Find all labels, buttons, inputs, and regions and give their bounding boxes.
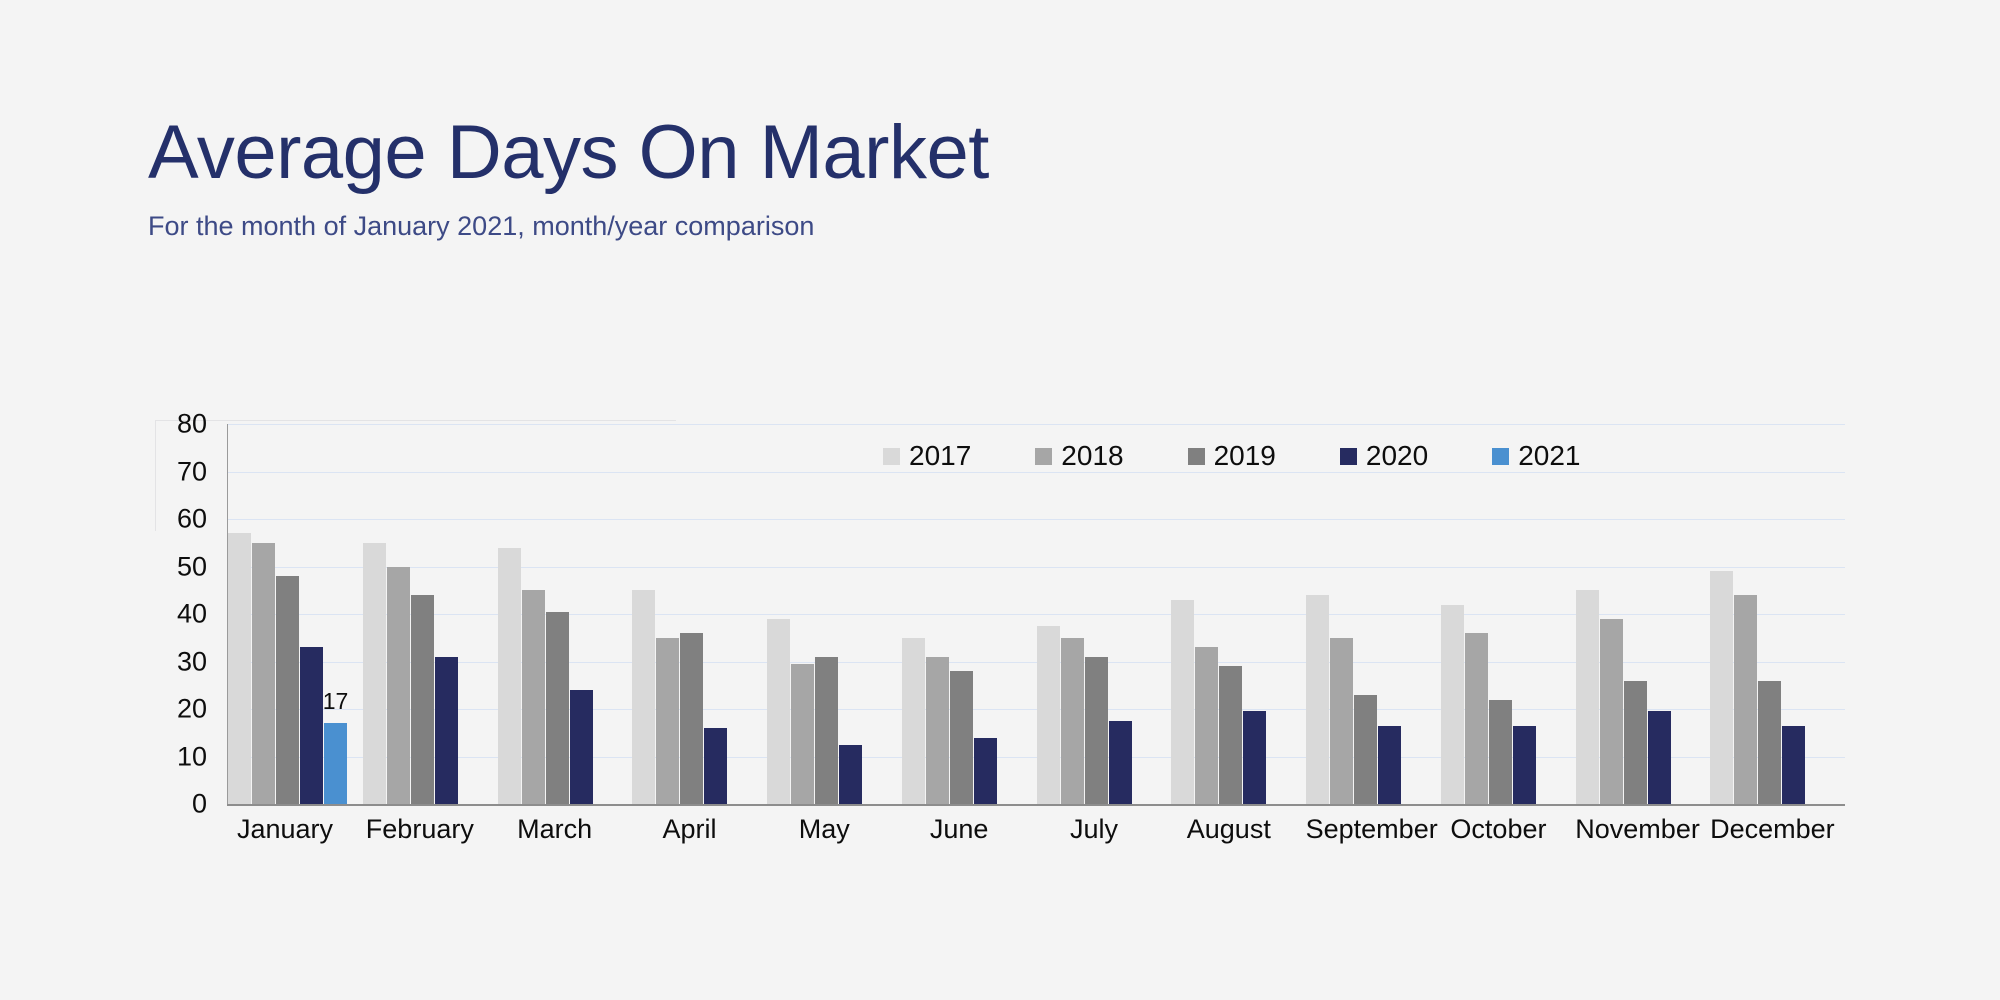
legend-item-2018[interactable]: 2018 (1035, 442, 1123, 470)
bar-2018-december[interactable] (1734, 595, 1757, 804)
y-axis: 80706050403020100 (155, 424, 217, 804)
bar-slot (1489, 424, 1512, 804)
bar-2017-july[interactable] (1037, 626, 1060, 804)
x-axis-tick-label: July (1036, 812, 1171, 852)
bar-2020-october[interactable] (1513, 726, 1536, 804)
legend-label: 2018 (1061, 442, 1123, 470)
bar-slot (1061, 424, 1084, 804)
x-axis-tick-text: June (901, 812, 1017, 846)
x-axis-tick-text: October (1440, 812, 1556, 846)
bar-group-august (1171, 424, 1306, 804)
bar-slot (1330, 424, 1353, 804)
bar-slot (1171, 424, 1194, 804)
bar-slot (656, 424, 679, 804)
bar-slot (1537, 424, 1560, 804)
x-axis-tick-label: October (1440, 812, 1575, 852)
bar-slot (1267, 424, 1290, 804)
bar-2020-january[interactable] (300, 647, 323, 804)
bar-slot (594, 424, 617, 804)
bar-slot (1133, 424, 1156, 804)
bar-slot (411, 424, 434, 804)
bar-slot (522, 424, 545, 804)
page-subtitle: For the month of January 2021, month/yea… (148, 210, 1548, 242)
bar-group-february (363, 424, 498, 804)
bar-slot (1806, 424, 1829, 804)
x-axis-tick-label: January (227, 812, 362, 852)
bar-slot (632, 424, 655, 804)
bar-slot (815, 424, 838, 804)
bar-group-july (1037, 424, 1172, 804)
bar-2018-january[interactable] (252, 543, 275, 804)
bar-2018-july[interactable] (1061, 638, 1084, 804)
bar-2019-january[interactable] (276, 576, 299, 804)
bar-slot (228, 424, 251, 804)
y-axis-tick-label: 0 (192, 791, 207, 818)
bar-2020-may[interactable] (839, 745, 862, 804)
bar-slot (300, 424, 323, 804)
bar-slot (1710, 424, 1733, 804)
bar-slot (1600, 424, 1623, 804)
bar-2019-august[interactable] (1219, 666, 1242, 804)
legend-item-2019[interactable]: 2019 (1188, 442, 1276, 470)
bar-2018-october[interactable] (1465, 633, 1488, 804)
bar-2018-may[interactable] (791, 664, 814, 804)
bar-slot (387, 424, 410, 804)
legend-label: 2019 (1214, 442, 1276, 470)
bar-slot (1306, 424, 1329, 804)
page-title: Average Days On Market (148, 110, 1548, 196)
bar-2017-october[interactable] (1441, 605, 1464, 805)
bar-slot (1672, 424, 1695, 804)
chart-header: Average Days On Market For the month of … (148, 110, 1548, 242)
bar-2017-may[interactable] (767, 619, 790, 804)
bar-slot (570, 424, 593, 804)
bar-slot (839, 424, 862, 804)
x-axis-tick-text: November (1575, 812, 1691, 846)
bar-2019-june[interactable] (950, 671, 973, 804)
bar-slot (459, 424, 482, 804)
bar-2018-april[interactable] (656, 638, 679, 804)
y-axis-tick-label: 40 (177, 601, 207, 628)
bar-slot (974, 424, 997, 804)
bar-slot (998, 424, 1021, 804)
bar-2019-april[interactable] (680, 633, 703, 804)
y-axis-tick-label: 50 (177, 553, 207, 580)
bar-slot (1402, 424, 1425, 804)
y-axis-tick-label: 70 (177, 458, 207, 485)
bar-slot (767, 424, 790, 804)
x-axis-tick-label: February (362, 812, 497, 852)
bar-2018-august[interactable] (1195, 647, 1218, 804)
legend-swatch-icon (883, 448, 900, 465)
bar-value-label: 17 (323, 690, 349, 713)
bar-slot (1648, 424, 1671, 804)
bar-slot (1465, 424, 1488, 804)
bar-2019-september[interactable] (1354, 695, 1377, 804)
bar-2019-may[interactable] (815, 657, 838, 804)
bar-2018-june[interactable] (926, 657, 949, 804)
bar-groups: 17 (228, 424, 1845, 804)
legend-item-2017[interactable]: 2017 (883, 442, 971, 470)
bar-2021-january[interactable] (324, 723, 347, 804)
bar-slot (1758, 424, 1781, 804)
bar-slot: 17 (324, 424, 347, 804)
bar-slot (1243, 424, 1266, 804)
bar-2020-august[interactable] (1243, 711, 1266, 804)
x-axis-tick-text: July (1036, 812, 1152, 846)
y-axis-tick-label: 10 (177, 743, 207, 770)
bar-slot (1085, 424, 1108, 804)
plot-area: 17 20172018201920202021 (227, 424, 1855, 804)
bar-slot (1378, 424, 1401, 804)
x-axis-tick-text: January (227, 812, 343, 846)
x-axis-tick-label: April (631, 812, 766, 852)
x-axis-tick-text: August (1171, 812, 1287, 846)
bar-slot (546, 424, 569, 804)
bar-slot (704, 424, 727, 804)
bar-2017-january[interactable] (228, 533, 251, 804)
bar-group-october (1441, 424, 1576, 804)
y-axis-tick-label: 30 (177, 648, 207, 675)
legend-label: 2017 (909, 442, 971, 470)
legend-label: 2021 (1518, 442, 1580, 470)
bar-slot (902, 424, 925, 804)
x-axis-tick-text: February (362, 812, 478, 846)
bar-2017-november[interactable] (1576, 590, 1599, 804)
x-axis-tick-label: March (497, 812, 632, 852)
legend-swatch-icon (1492, 448, 1509, 465)
bar-slot (1109, 424, 1132, 804)
legend-label: 2020 (1366, 442, 1428, 470)
bar-2018-september[interactable] (1330, 638, 1353, 804)
bar-slot (1734, 424, 1757, 804)
bar-2020-april[interactable] (704, 728, 727, 804)
bar-slot (363, 424, 386, 804)
bar-2017-april[interactable] (632, 590, 655, 804)
y-axis-tick-label: 20 (177, 696, 207, 723)
x-axis-tick-label: August (1171, 812, 1306, 852)
x-axis-tick-text: April (631, 812, 747, 846)
bar-2020-march[interactable] (570, 690, 593, 804)
bar-2017-june[interactable] (902, 638, 925, 804)
x-axis-tick-text: March (497, 812, 613, 846)
bar-slot (276, 424, 299, 804)
x-axis-tick-label: June (901, 812, 1036, 852)
legend-item-2020[interactable]: 2020 (1340, 442, 1428, 470)
x-axis: JanuaryFebruaryMarchAprilMayJuneJulyAugu… (227, 812, 1845, 852)
bar-slot (1037, 424, 1060, 804)
bar-slot (1441, 424, 1464, 804)
bar-slot (728, 424, 751, 804)
bar-2018-november[interactable] (1600, 619, 1623, 804)
bar-2020-february[interactable] (435, 657, 458, 804)
bar-2019-february[interactable] (411, 595, 434, 804)
bar-group-april (632, 424, 767, 804)
legend-item-2021[interactable]: 2021 (1492, 442, 1580, 470)
bar-slot (252, 424, 275, 804)
x-axis-tick-text: May (766, 812, 882, 846)
legend-swatch-icon (1035, 448, 1052, 465)
bar-2020-november[interactable] (1648, 711, 1671, 804)
bar-slot (680, 424, 703, 804)
x-axis-line (227, 804, 1845, 806)
bar-slot (498, 424, 521, 804)
bar-slot (1219, 424, 1242, 804)
bar-group-december (1710, 424, 1845, 804)
bar-2020-september[interactable] (1378, 726, 1401, 804)
x-axis-tick-label: December (1710, 812, 1845, 852)
bar-slot (435, 424, 458, 804)
legend-swatch-icon (1340, 448, 1357, 465)
y-axis-tick-label: 80 (177, 411, 207, 438)
bar-2018-february[interactable] (387, 567, 410, 805)
bar-2019-november[interactable] (1624, 681, 1647, 805)
legend-swatch-icon (1188, 448, 1205, 465)
bar-2017-august[interactable] (1171, 600, 1194, 804)
bar-group-september (1306, 424, 1441, 804)
bar-2017-december[interactable] (1710, 571, 1733, 804)
bar-slot (863, 424, 886, 804)
bar-2018-march[interactable] (522, 590, 545, 804)
bar-group-november (1576, 424, 1711, 804)
bar-slot (1576, 424, 1599, 804)
y-axis-tick-label: 60 (177, 506, 207, 533)
bar-group-may (767, 424, 902, 804)
bar-2020-december[interactable] (1782, 726, 1805, 804)
bar-2020-june[interactable] (974, 738, 997, 805)
bar-group-january: 17 (228, 424, 363, 804)
bar-2017-february[interactable] (363, 543, 386, 804)
bar-slot (926, 424, 949, 804)
bar-2019-october[interactable] (1489, 700, 1512, 805)
x-axis-tick-text: December (1710, 812, 1826, 846)
bar-2017-september[interactable] (1306, 595, 1329, 804)
bar-slot (950, 424, 973, 804)
bar-slot (1624, 424, 1647, 804)
chart-legend: 20172018201920202021 (883, 442, 1580, 470)
bar-chart: 80706050403020100 17 2017201820192020202… (155, 424, 1855, 842)
bar-slot (1782, 424, 1805, 804)
bar-2019-march[interactable] (546, 612, 569, 804)
bar-2017-march[interactable] (498, 548, 521, 805)
bar-slot (1354, 424, 1377, 804)
x-axis-tick-label: November (1575, 812, 1710, 852)
bar-group-june (902, 424, 1037, 804)
slide-canvas: Average Days On Market For the month of … (0, 0, 2000, 1000)
x-axis-tick-text: September (1306, 812, 1422, 846)
bar-slot (1195, 424, 1218, 804)
bar-group-march (498, 424, 633, 804)
bar-2019-december[interactable] (1758, 681, 1781, 805)
bar-2019-july[interactable] (1085, 657, 1108, 804)
bar-slot (1513, 424, 1536, 804)
bar-slot (791, 424, 814, 804)
x-axis-tick-label: May (766, 812, 901, 852)
bar-2020-july[interactable] (1109, 721, 1132, 804)
x-axis-tick-label: September (1306, 812, 1441, 852)
